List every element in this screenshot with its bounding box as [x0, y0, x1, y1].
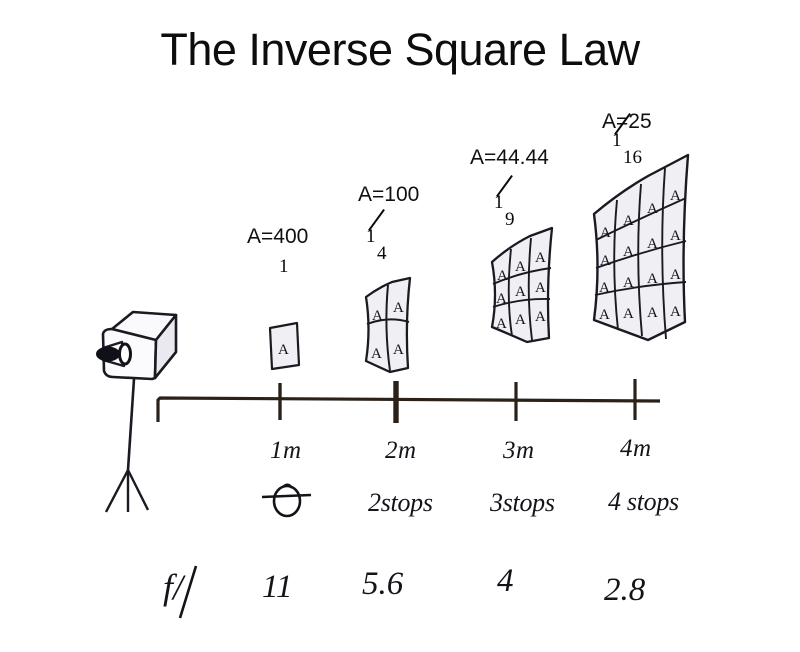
light-source-strobe [96, 312, 176, 512]
fstop-value-3m: 4 [497, 563, 514, 600]
tick-label-4m: 4m [620, 435, 652, 463]
fstop-prefix: f/ [163, 566, 183, 608]
svg-text:A: A [393, 300, 404, 316]
svg-text:A: A [623, 244, 634, 260]
fstop-value-4m: 2.8 [604, 572, 645, 609]
svg-text:A: A [670, 228, 681, 244]
svg-text:A: A [670, 188, 681, 204]
light-panel-1m: A [270, 323, 299, 369]
stops-label-2m: 2stops [368, 488, 433, 518]
svg-text:A: A [371, 346, 382, 362]
inverse-square-law-diagram: The Inverse Square Law A=400 A=100 A=44.… [0, 0, 800, 652]
light-panel-3m: A A A A A A A A A [492, 228, 552, 342]
svg-text:A: A [599, 280, 610, 296]
handdrawn-artwork: A A A A A A A A A A A A A A [0, 0, 800, 652]
svg-text:A: A [515, 312, 526, 328]
light-panel-2m: A A A A [366, 278, 410, 372]
svg-text:A: A [647, 236, 658, 252]
svg-text:A: A [670, 267, 681, 283]
fstop-value-2m: 5.6 [362, 566, 403, 603]
svg-text:A: A [623, 306, 634, 322]
stops-label-3m: 3stops [490, 488, 555, 518]
svg-text:A: A [535, 309, 546, 325]
svg-text:A: A [393, 342, 404, 358]
distance-ruler [158, 379, 660, 423]
svg-text:A: A [670, 304, 681, 320]
fstop-value-1m: 11 [262, 569, 293, 606]
tick-label-2m: 2m [385, 437, 417, 465]
svg-text:A: A [600, 225, 611, 241]
svg-text:A: A [599, 307, 610, 323]
svg-text:A: A [515, 259, 526, 275]
light-panel-4m: A A A A A A A A A A A A A A A A [594, 155, 688, 340]
stops-label-4m: 4 stops [608, 487, 679, 517]
svg-text:A: A [535, 280, 546, 296]
svg-text:A: A [623, 213, 634, 229]
svg-text:A: A [535, 250, 546, 266]
svg-text:A: A [372, 308, 383, 324]
panel-cell-letter: A [278, 342, 289, 358]
zero-stops-struck [262, 485, 311, 516]
svg-text:A: A [600, 253, 611, 269]
strikethrough [262, 495, 311, 497]
svg-text:A: A [647, 201, 658, 217]
svg-text:A: A [515, 284, 526, 300]
svg-text:A: A [496, 291, 507, 307]
svg-text:A: A [647, 305, 658, 321]
svg-text:A: A [496, 316, 507, 332]
svg-text:A: A [623, 275, 634, 291]
tick-label-3m: 3m [503, 437, 535, 465]
svg-text:A: A [497, 268, 508, 284]
tick-label-1m: 1m [270, 437, 302, 465]
svg-text:A: A [647, 271, 658, 287]
